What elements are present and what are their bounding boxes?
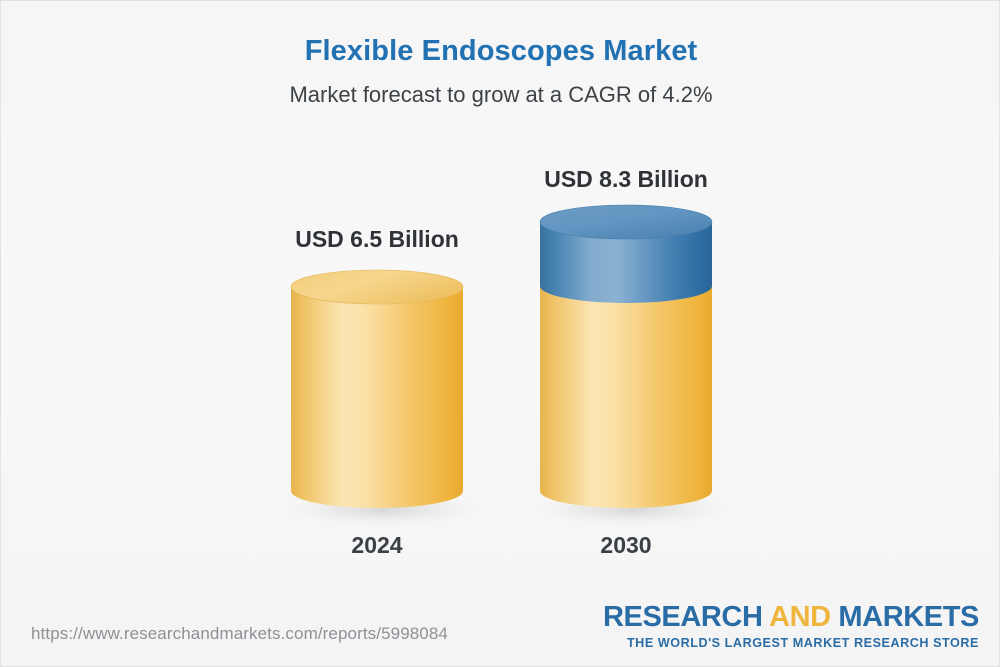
- brand-word-research: RESEARCH: [603, 601, 763, 633]
- bar-body-2024: [291, 287, 463, 508]
- brand-word-and: AND: [769, 601, 831, 633]
- bar-top-cap-2030: [540, 205, 712, 239]
- footer: https://www.researchandmarkets.com/repor…: [1, 596, 1000, 666]
- value-label-2024: USD 6.5 Billion: [217, 226, 537, 253]
- category-label-2030: 2030: [466, 532, 786, 559]
- bar-segment-base-2030: [540, 286, 712, 508]
- brand-name: RESEARCH AND MARKETS: [603, 603, 979, 633]
- brand-word-markets: MARKETS: [838, 601, 979, 633]
- bar-2030[interactable]: [522, 191, 732, 531]
- bar-top-cap-2024: [291, 270, 463, 304]
- brand-logo[interactable]: RESEARCH AND MARKETS THE WORLD'S LARGEST…: [603, 603, 979, 650]
- value-label-2030: USD 8.3 Billion: [466, 166, 786, 193]
- source-url-link[interactable]: https://www.researchandmarkets.com/repor…: [31, 624, 448, 644]
- bar-2024[interactable]: [273, 256, 483, 531]
- infographic-canvas: Flexible Endoscopes Market Market foreca…: [0, 0, 1000, 667]
- chart-plot-area: USD 6.5 Billion USD 8.3 Billion: [1, 1, 1000, 601]
- brand-tagline: THE WORLD'S LARGEST MARKET RESEARCH STOR…: [603, 633, 979, 650]
